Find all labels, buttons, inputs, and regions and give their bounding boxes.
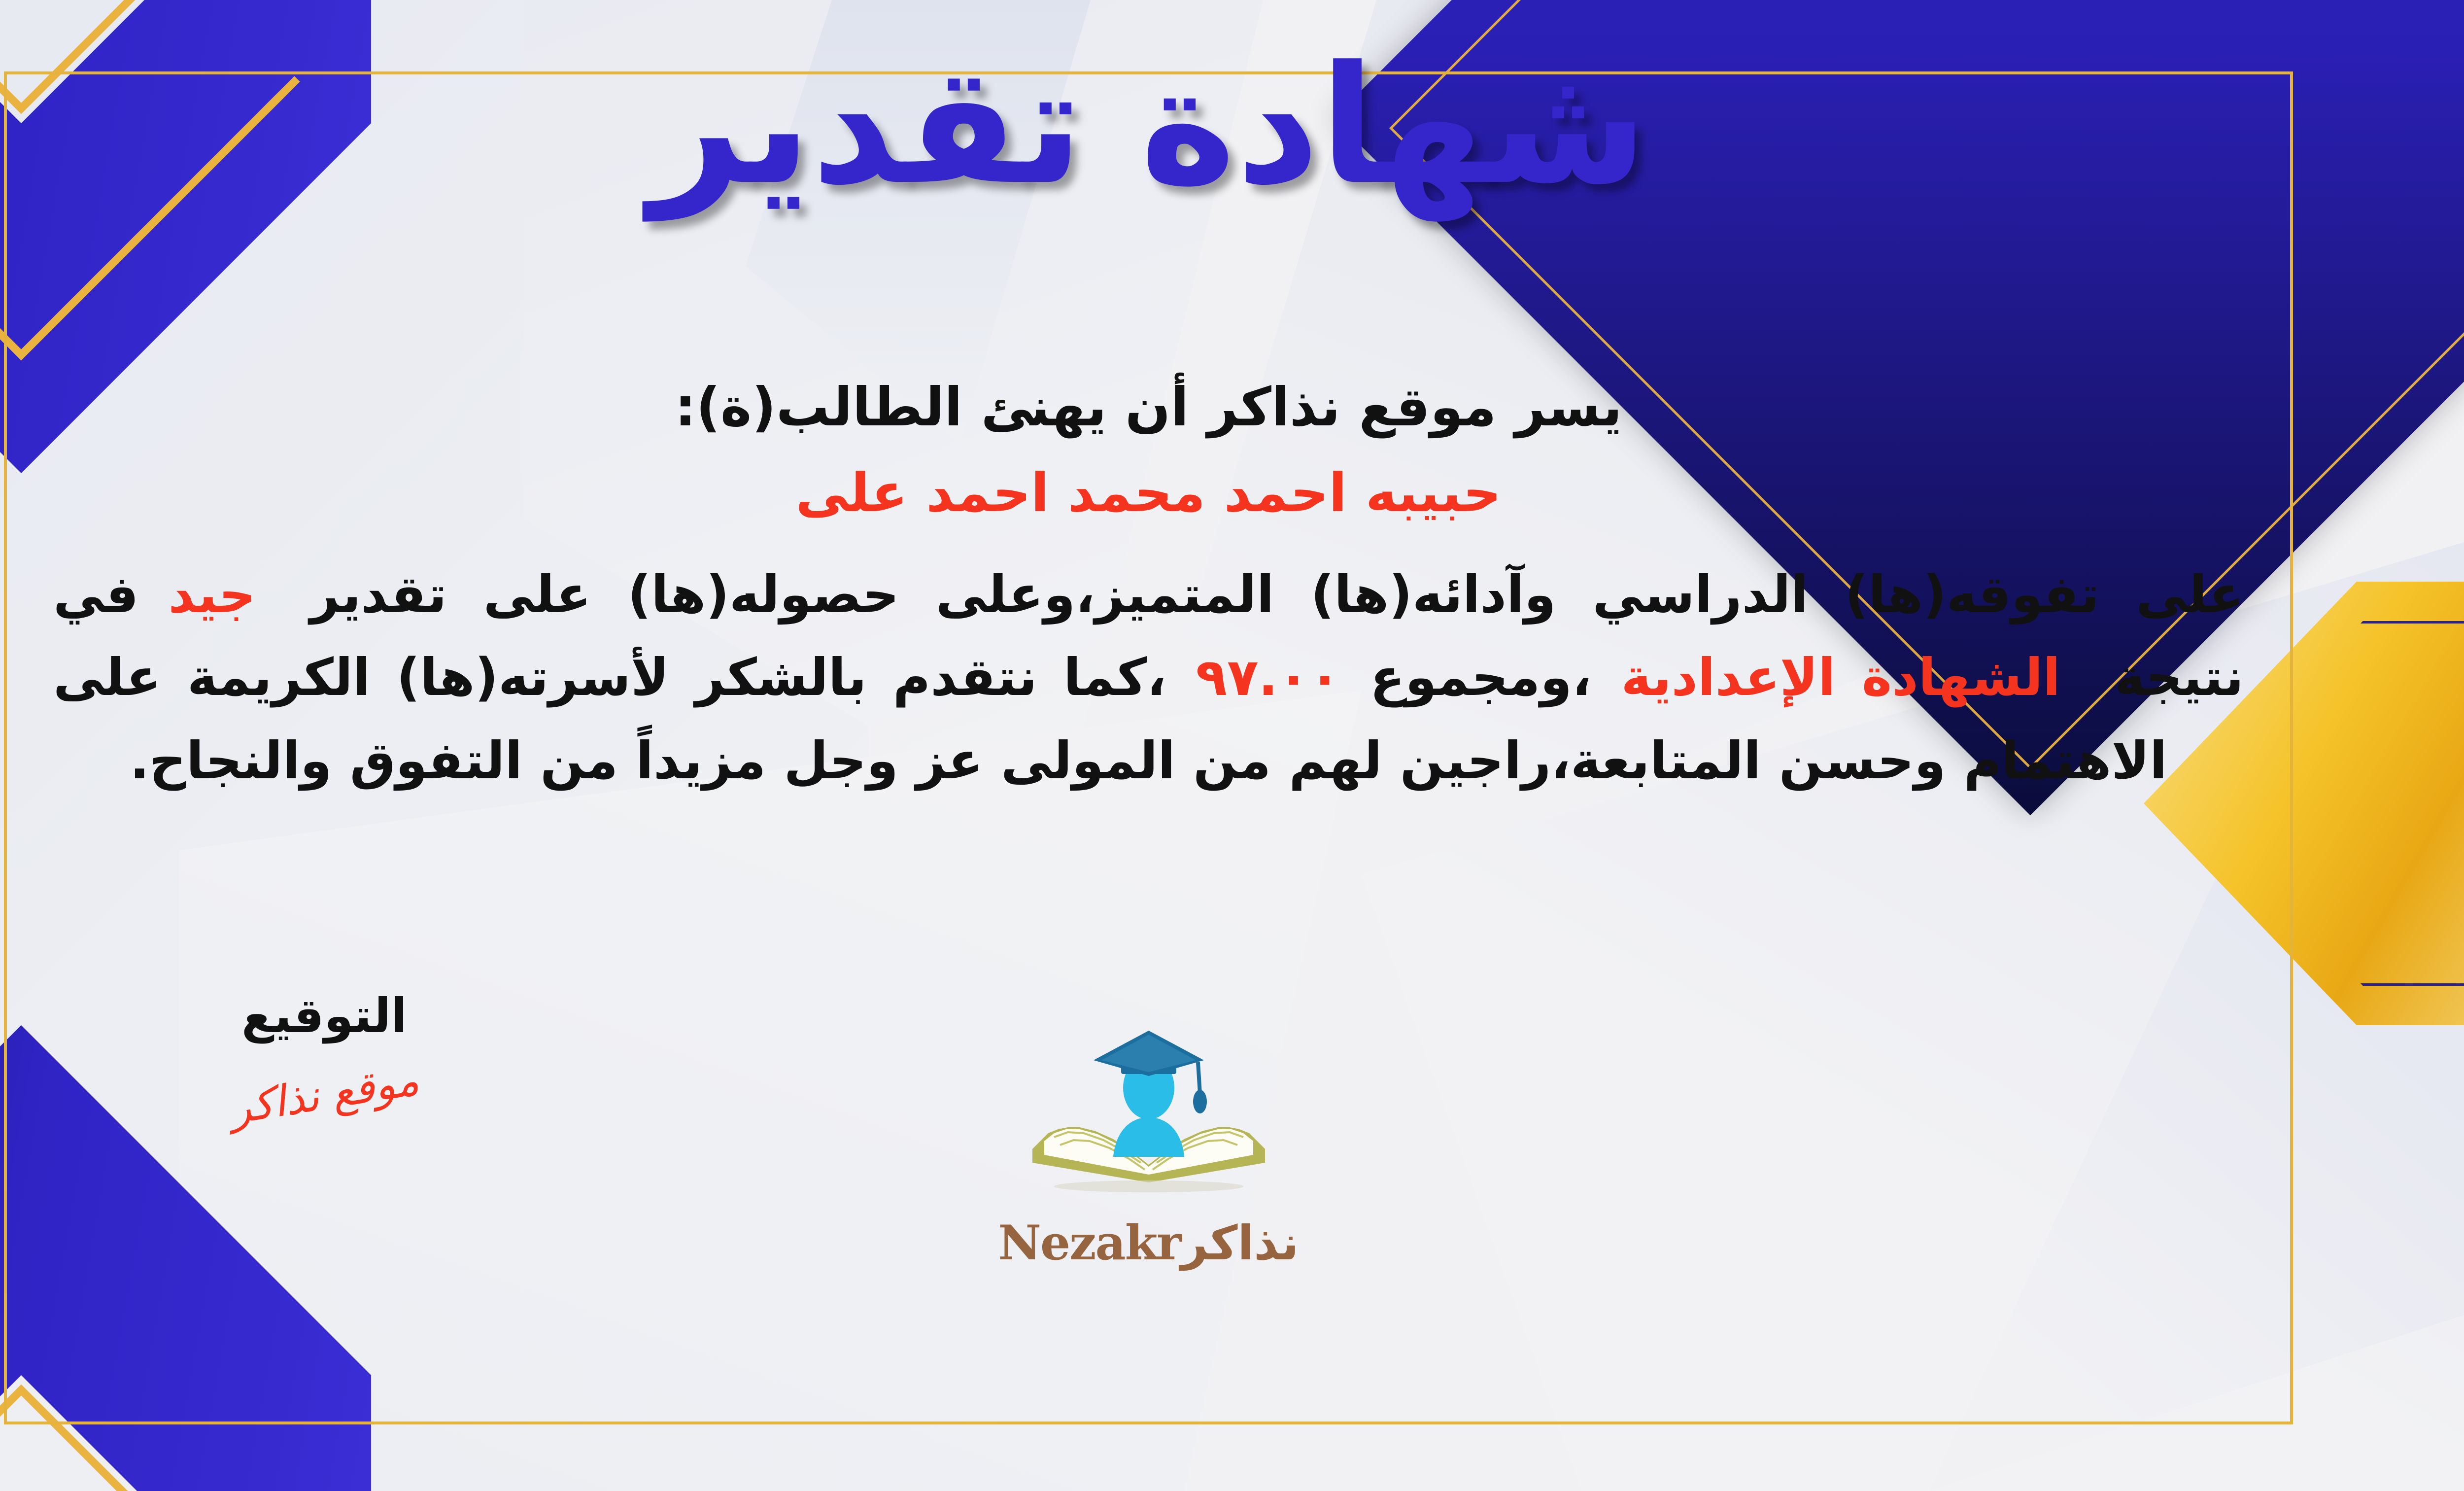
achievement-segment-1: على تفوقه(ها) الدراسي وآدائه(ها) المتميز… — [310, 564, 2244, 624]
exam-name: الشهادة الإعدادية — [1621, 647, 2061, 707]
grade-value: جيد — [168, 564, 255, 624]
certificate-page: شهادة تقدير يسر موقع نذاكر أن يهنئ الطال… — [0, 0, 2464, 1491]
logo-latin-text: Nezakr — [998, 1215, 1181, 1271]
logo-arabic-text: نذاكر — [1181, 1215, 1299, 1271]
intro-line: يسر موقع نذاكر أن يهنئ الطالب(ة): — [53, 367, 2244, 448]
site-logo: نذاكرNezakr — [4, 1023, 2293, 1271]
graduate-book-icon — [1011, 1023, 1287, 1220]
achievement-paragraph: على تفوقه(ها) الدراسي وآدائه(ها) المتميز… — [53, 553, 2244, 802]
certificate-title: شهادة تقدير — [4, 44, 2293, 207]
certificate-content: شهادة تقدير يسر موقع نذاكر أن يهنئ الطال… — [4, 71, 2293, 1424]
achievement-segment-3: ،ومجموع — [1370, 647, 1591, 707]
certificate-body: يسر موقع نذاكر أن يهنئ الطالب(ة): حبيبه … — [53, 367, 2244, 802]
score-value: ٩٧.٠٠ — [1196, 647, 1340, 707]
logo-wordmark: نذاكرNezakr — [4, 1215, 2293, 1271]
student-name: حبيبه احمد محمد احمد على — [53, 451, 2244, 536]
